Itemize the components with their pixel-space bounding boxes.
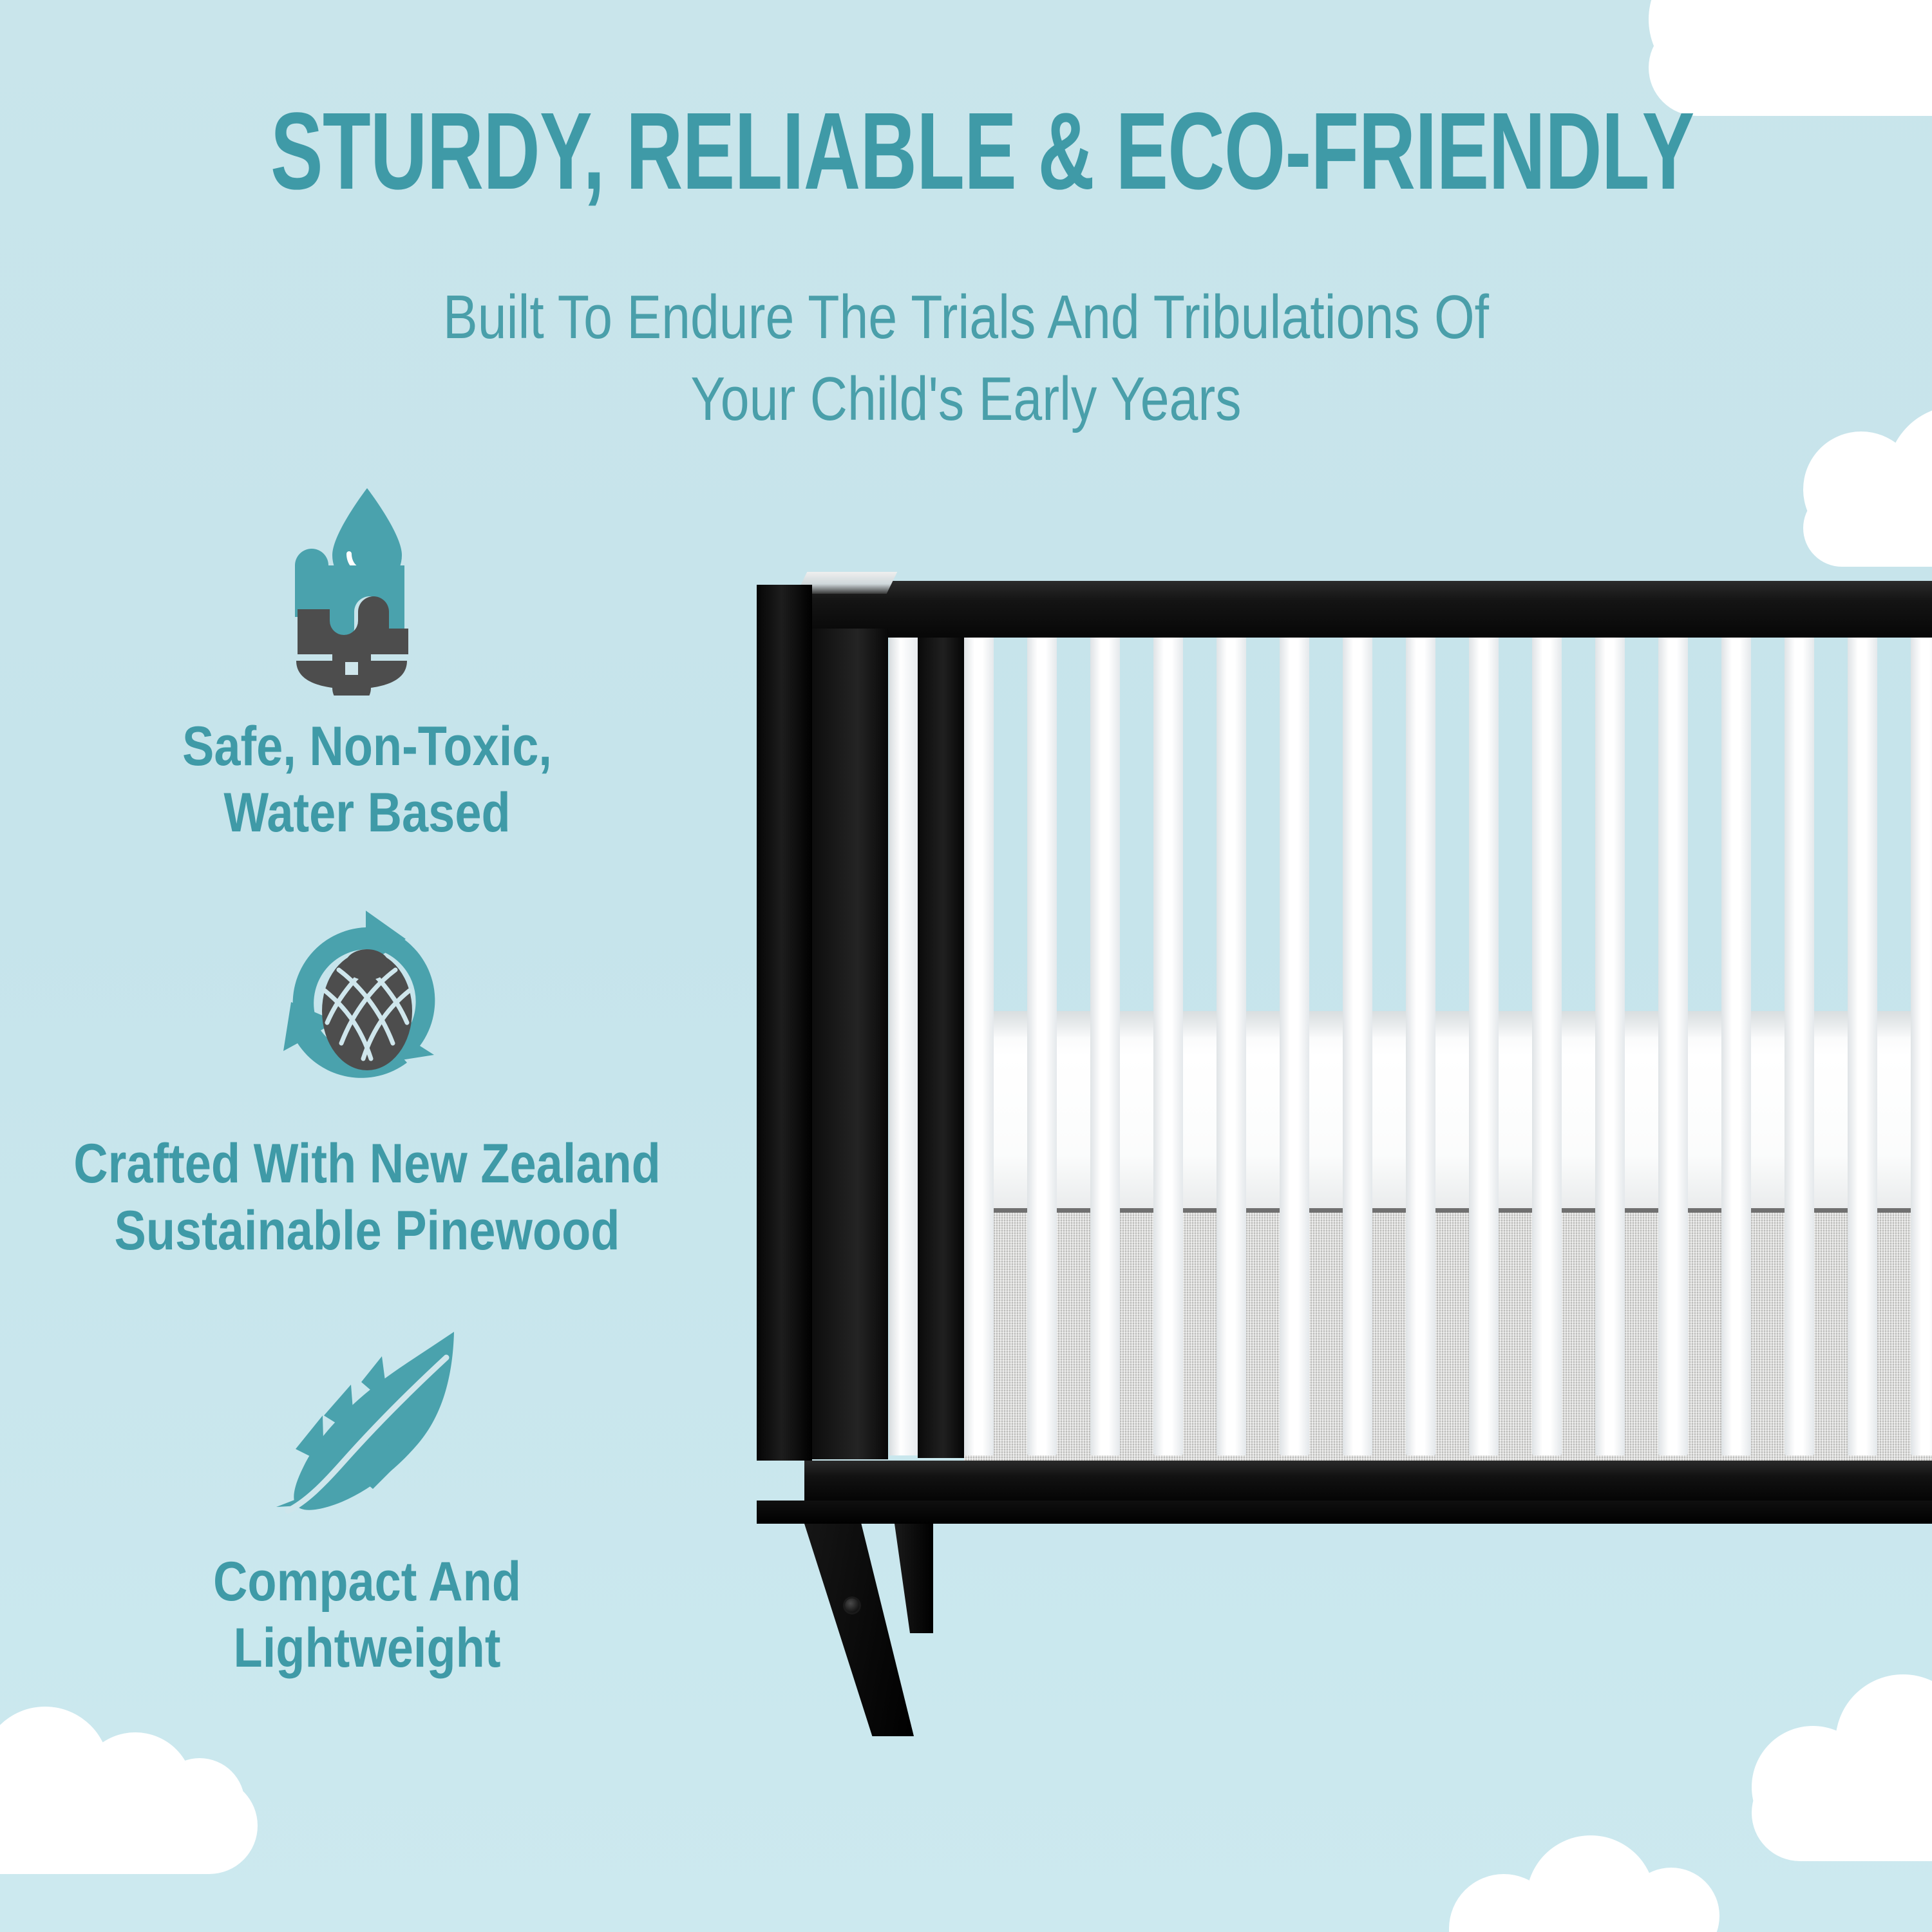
crib-spindle [1595,634,1625,1455]
page-title: STURDY, RELIABLE & ECO-FRIENDLY [270,97,1662,206]
page-subtitle: Built To Endure The Trials And Tribulati… [155,277,1777,440]
feature-item-compact-lightweight: Compact And Lightweight [26,1312,708,1681]
feature-list: Safe, Non-Toxic, Water Based [26,477,708,1729]
crib-spindle [1217,634,1246,1455]
crib-base-rail [757,1501,1932,1524]
crib-spindle [1343,634,1372,1455]
feature-label-line-2: Lightweight [73,1615,661,1681]
crib-leg-brace [895,1524,933,1633]
feature-label-compact-lightweight: Compact And Lightweight [73,1549,661,1681]
crib-product-image [757,567,1932,1674]
subtitle-line-1: Built To Endure The Trials And Tribulati… [155,277,1777,359]
feature-label-line-1: Crafted With New Zealand [73,1131,661,1197]
crib-spindle [1532,634,1562,1455]
crib-spindle-row [964,634,1932,1455]
crib-spindle [964,634,994,1455]
crib-spindle [1848,634,1877,1455]
feature-label-line-2: Water Based [73,780,661,846]
crib-spindle [1721,634,1751,1455]
feature-item-sustainable-pinewood: Crafted With New Zealand Sustainable Pin… [26,894,708,1264]
crib-top-rail [808,581,1932,638]
crib-end-panel-spindle [889,631,918,1455]
subtitle-line-2: Your Child's Early Years [155,359,1777,440]
feature-label-safe-non-toxic: Safe, Non-Toxic, Water Based [73,714,661,846]
crib-spindle [1406,634,1435,1455]
crib-leg-screw [845,1598,859,1613]
feature-label-line-2: Sustainable Pinewood [73,1198,661,1264]
crib-spindle [1280,634,1309,1455]
crib-bottom-rail [804,1461,1932,1501]
crib-spindle [1911,634,1932,1455]
recycle-pinecone-icon [26,894,708,1119]
paint-brush-water-drop-icon [26,477,708,702]
crib-corner-post [757,585,812,1461]
feature-item-safe-non-toxic: Safe, Non-Toxic, Water Based [26,477,708,846]
feature-label-sustainable-pinewood: Crafted With New Zealand Sustainable Pin… [73,1131,661,1264]
infographic-canvas: STURDY, RELIABLE & ECO-FRIENDLY Built To… [0,0,1932,1932]
crib-spindle [1090,634,1120,1455]
crib-spindle [1785,634,1814,1455]
crib-spindle [1153,634,1183,1455]
feather-icon [26,1312,708,1537]
crib-spindle [1027,634,1057,1455]
crib-end-panel-frame [918,630,964,1458]
feature-label-line-1: Safe, Non-Toxic, [73,714,661,780]
feature-label-line-1: Compact And [73,1549,661,1615]
crib-spindle [1469,634,1499,1455]
crib-corner-post-inner [812,629,888,1459]
crib-spindle [1658,634,1688,1455]
